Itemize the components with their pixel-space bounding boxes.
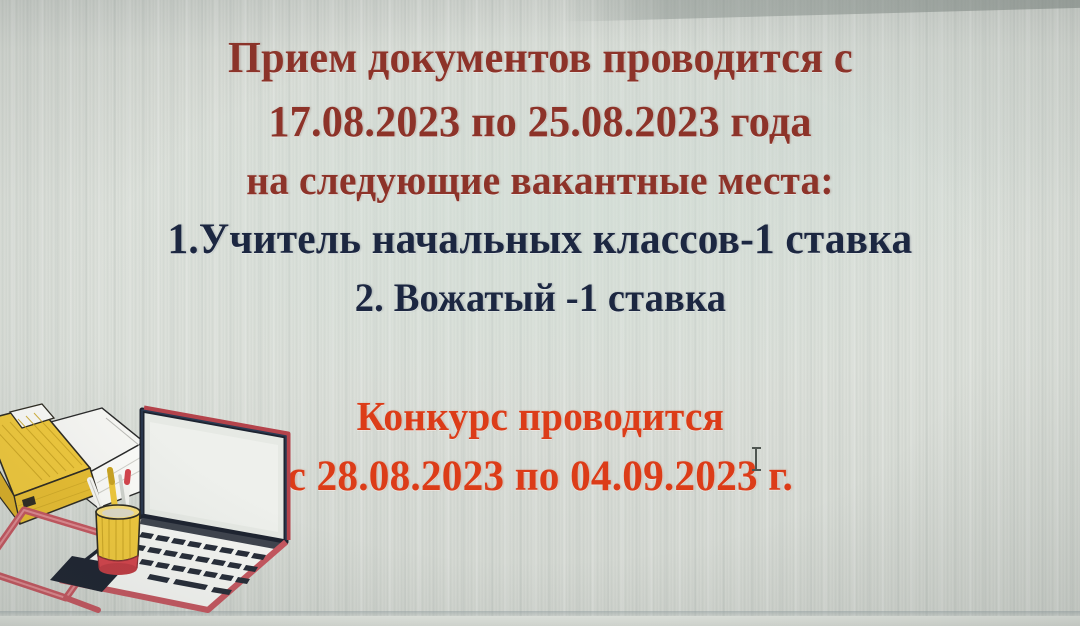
headline-line-3-vacancy-intro: на следующие вакантные места:: [0, 160, 1080, 201]
vacancy-item-1: 1.Учитель начальных классов-1 ставка: [0, 218, 1080, 261]
headline-line-2-dates: 17.08.2023 по 25.08.2023 года: [0, 100, 1080, 144]
vacancy-item-2: 2. Вожатый -1 ставка: [0, 278, 1080, 318]
text-ibeam-cursor[interactable]: [752, 447, 761, 471]
headline-line-1: Прием документов проводится с: [0, 36, 1080, 80]
ibeam-stem: [755, 449, 757, 469]
workspace-illustration: [0, 384, 324, 626]
slide-canvas: Прием документов проводится с 17.08.2023…: [0, 0, 1080, 626]
pencil-cup: [96, 505, 140, 575]
ibeam-bottom-cap: [752, 469, 761, 471]
